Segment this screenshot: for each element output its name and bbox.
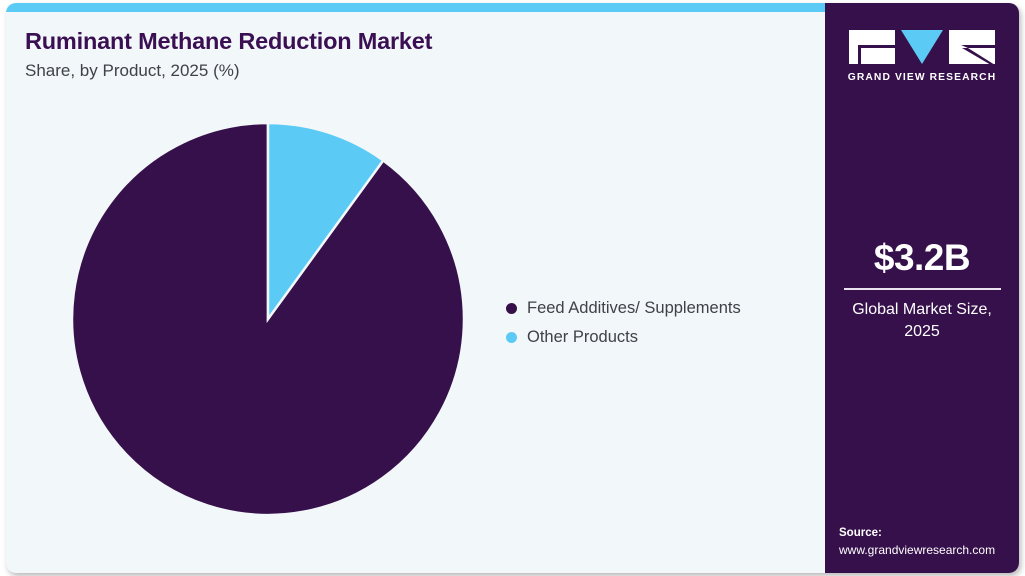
market-size-caption: Global Market Size, 2025 xyxy=(825,299,1019,342)
source-url[interactable]: www.grandviewresearch.com xyxy=(839,542,1017,559)
legend-item-feed-additives[interactable]: Feed Additives/ Supplements xyxy=(506,294,741,323)
brand-logo: GRAND VIEW RESEARCH xyxy=(825,29,1019,83)
brand-panel: GRAND VIEW RESEARCH $3.2B Global Market … xyxy=(825,3,1019,573)
brand-logo-text: GRAND VIEW RESEARCH xyxy=(825,72,1019,83)
legend-item-other-products[interactable]: Other Products xyxy=(506,323,741,352)
source-label: Source: xyxy=(839,525,1017,542)
gvr-logo-icon xyxy=(849,29,995,65)
legend-swatch-icon xyxy=(506,332,517,343)
pie-chart-svg xyxy=(71,122,465,516)
chart-legend: Feed Additives/ Supplements Other Produc… xyxy=(506,294,741,352)
market-size-stat: $3.2B Global Market Size, 2025 xyxy=(825,239,1019,342)
page-title: Ruminant Methane Reduction Market xyxy=(25,28,432,55)
chart-card: Ruminant Methane Reduction Market Share,… xyxy=(6,3,1019,573)
page-subtitle: Share, by Product, 2025 (%) xyxy=(25,61,240,81)
market-size-value: $3.2B xyxy=(825,239,1019,276)
legend-item-label: Other Products xyxy=(527,328,638,347)
legend-item-label: Feed Additives/ Supplements xyxy=(527,299,741,318)
chart-canvas: Ruminant Methane Reduction Market Share,… xyxy=(0,0,1025,576)
legend-swatch-icon xyxy=(506,303,517,314)
pie-chart xyxy=(71,122,465,516)
source-block: Source: www.grandviewresearch.com xyxy=(839,525,1017,559)
stat-divider xyxy=(844,288,1001,290)
top-accent-bar xyxy=(6,3,825,12)
